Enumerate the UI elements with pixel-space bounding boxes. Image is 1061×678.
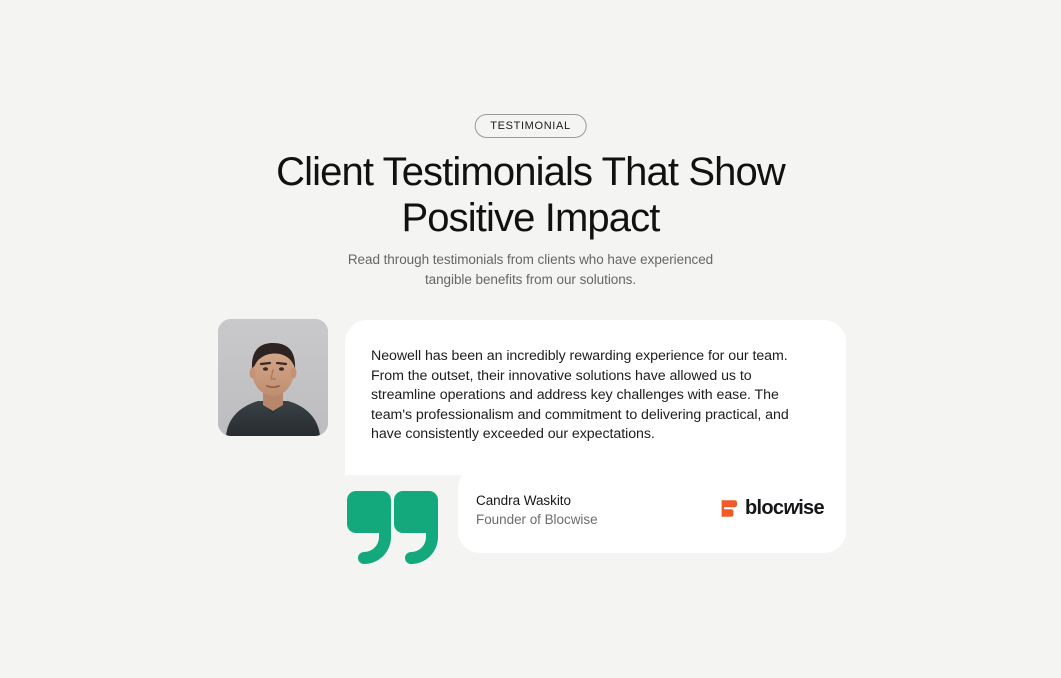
avatar-photo [218,319,328,436]
section-badge-label: TESTIMONIAL [490,120,571,132]
author-role: Founder of Blocwise [476,510,598,529]
brand-word-part-3: ise [798,497,824,519]
page-title: Client Testimonials That Show Positive I… [0,149,1061,241]
testimonial-quote: Neowell has been an incredibly rewarding… [371,347,807,445]
page-subtitle: Read through testimonials from clients w… [0,250,1061,290]
page-subtitle-line-1: Read through testimonials from clients w… [348,252,713,267]
brand-word-part-1: bloc [745,497,783,519]
section-badge: TESTIMONIAL [474,114,587,138]
author-name: Candra Waskito [476,491,598,510]
blocwise-mark-icon [720,499,739,518]
page-subtitle-line-2: tangible benefits from our solutions. [425,272,636,287]
page-title-line-1: Client Testimonials That Show [276,150,785,194]
testimonial-page: TESTIMONIAL Client Testimonials That Sho… [0,0,1061,678]
testimonial-attribution: Candra Waskito Founder of Blocwise [476,491,598,529]
page-title-line-2: Positive Impact [401,196,659,240]
avatar [218,319,328,436]
brand-logo: blocwise [720,498,824,518]
brand-wordmark: blocwise [745,498,824,518]
double-quote-icon-glyph [345,489,438,566]
double-quote-icon [345,489,438,566]
brand-word-part-2: w [783,497,798,519]
